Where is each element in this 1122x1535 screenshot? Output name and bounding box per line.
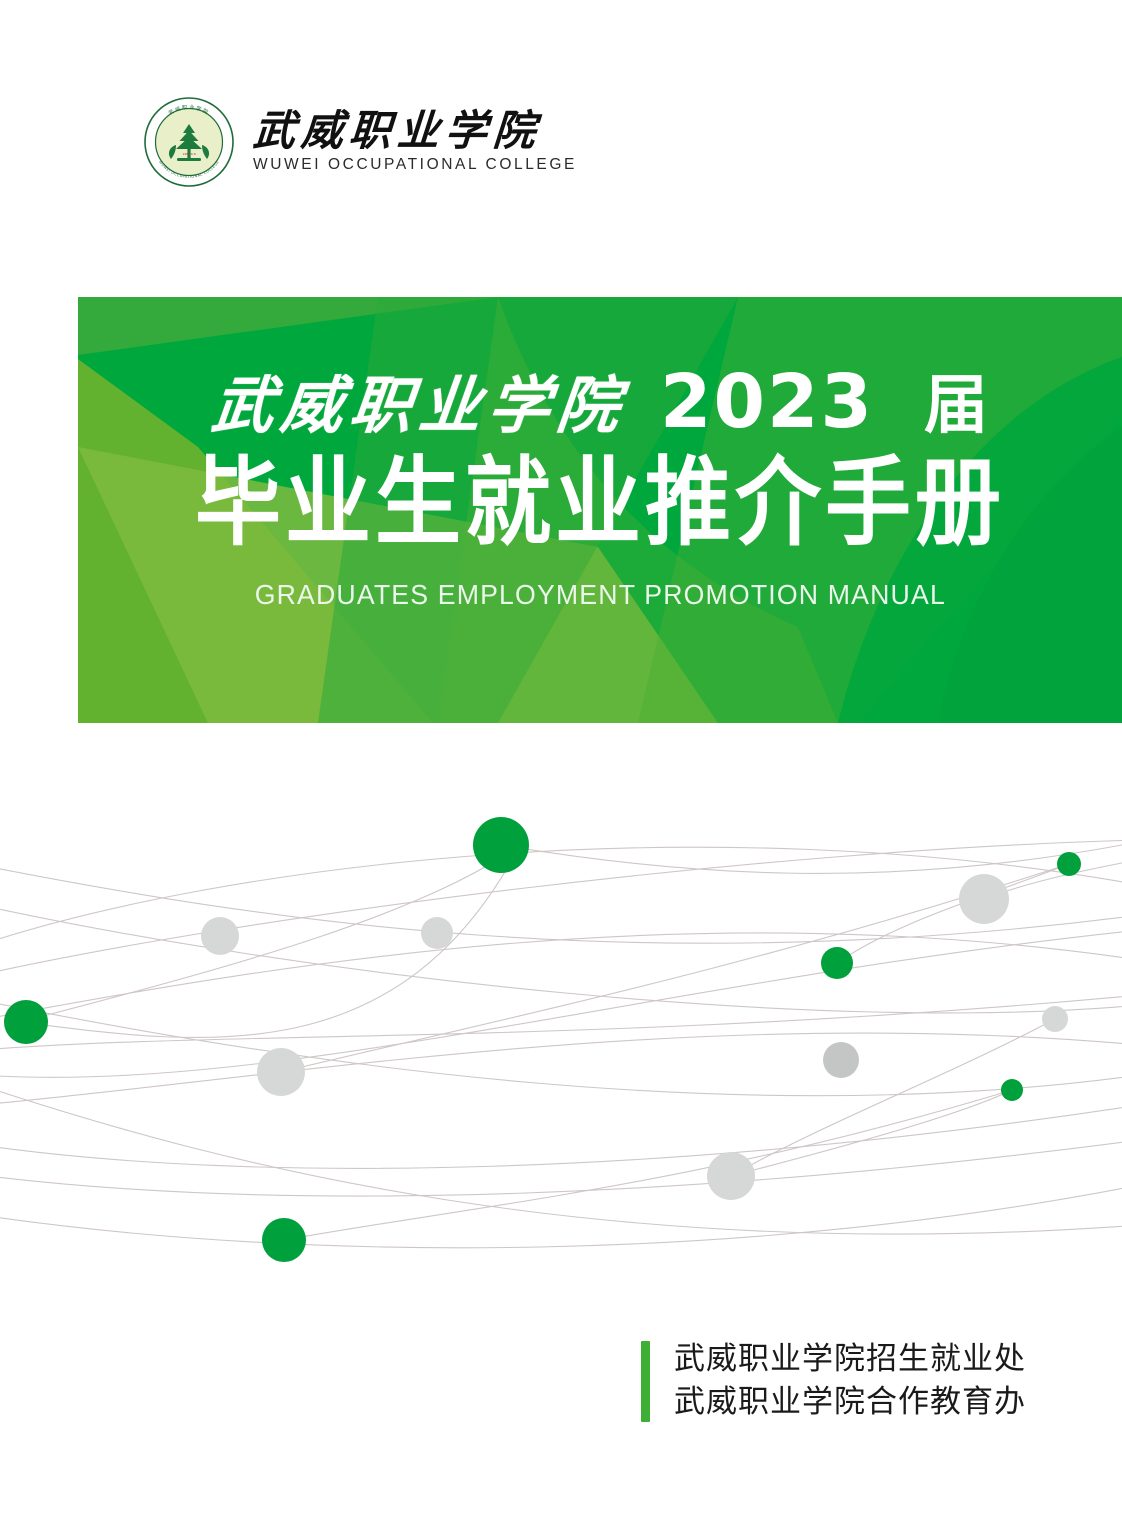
node-grey-dark-mid (823, 1042, 859, 1078)
network-graphic (0, 745, 1122, 1315)
node-grey-left-lower (257, 1048, 305, 1096)
node-grey-right-small (1042, 1006, 1068, 1032)
banner-title-cn: 武威职业学院 (209, 376, 630, 438)
node-grey-left-upper (201, 917, 239, 955)
banner-title-jie: 届 (924, 374, 988, 438)
banner-title-main: 毕业生就业推介手册 (195, 453, 1005, 554)
node-green-far-left (4, 1000, 48, 1044)
node-green-bottom-left (262, 1218, 306, 1262)
network-nodes (4, 817, 1081, 1262)
network-links (0, 840, 1122, 1248)
node-green-right-lower (1001, 1079, 1023, 1101)
footer-credit: 武威职业学院招生就业处 武威职业学院合作教育办 (641, 1341, 1026, 1422)
footer-line-2: 武威职业学院合作教育办 (674, 1384, 1026, 1422)
banner-title-year: 2023 (660, 365, 874, 439)
logo-name-cn: 武威职业学院 (252, 111, 579, 153)
node-grey-bottom-mid (707, 1152, 755, 1200)
footer-line-1: 武威职业学院招生就业处 (674, 1341, 1026, 1379)
title-banner: 武威职业学院 2023 届 毕业生就业推介手册 GRADUATES EMPLOY… (78, 297, 1122, 723)
college-emblem-icon: 武威职业学院 WUWEI OCCUPATIONAL COLLEGE 1985.6… (143, 96, 235, 188)
banner-title-row: 武威职业学院 2023 届 (212, 365, 988, 439)
brand-logo: 武威职业学院 WUWEI OCCUPATIONAL COLLEGE 1985.6… (143, 96, 577, 188)
logo-name-en: WUWEI OCCUPATIONAL COLLEGE (253, 157, 577, 173)
network-svg (0, 745, 1122, 1315)
node-green-small-right (1057, 852, 1081, 876)
svg-text:1985.6.8: 1985.6.8 (182, 152, 195, 156)
footer-accent-bar (641, 1341, 650, 1422)
node-grey-mid-upper (421, 917, 453, 949)
banner-subtitle-en: GRADUATES EMPLOYMENT PROMOTION MANUAL (254, 579, 945, 611)
node-green-large-top (473, 817, 529, 873)
node-grey-large-right (959, 874, 1009, 924)
node-green-center (821, 947, 853, 979)
